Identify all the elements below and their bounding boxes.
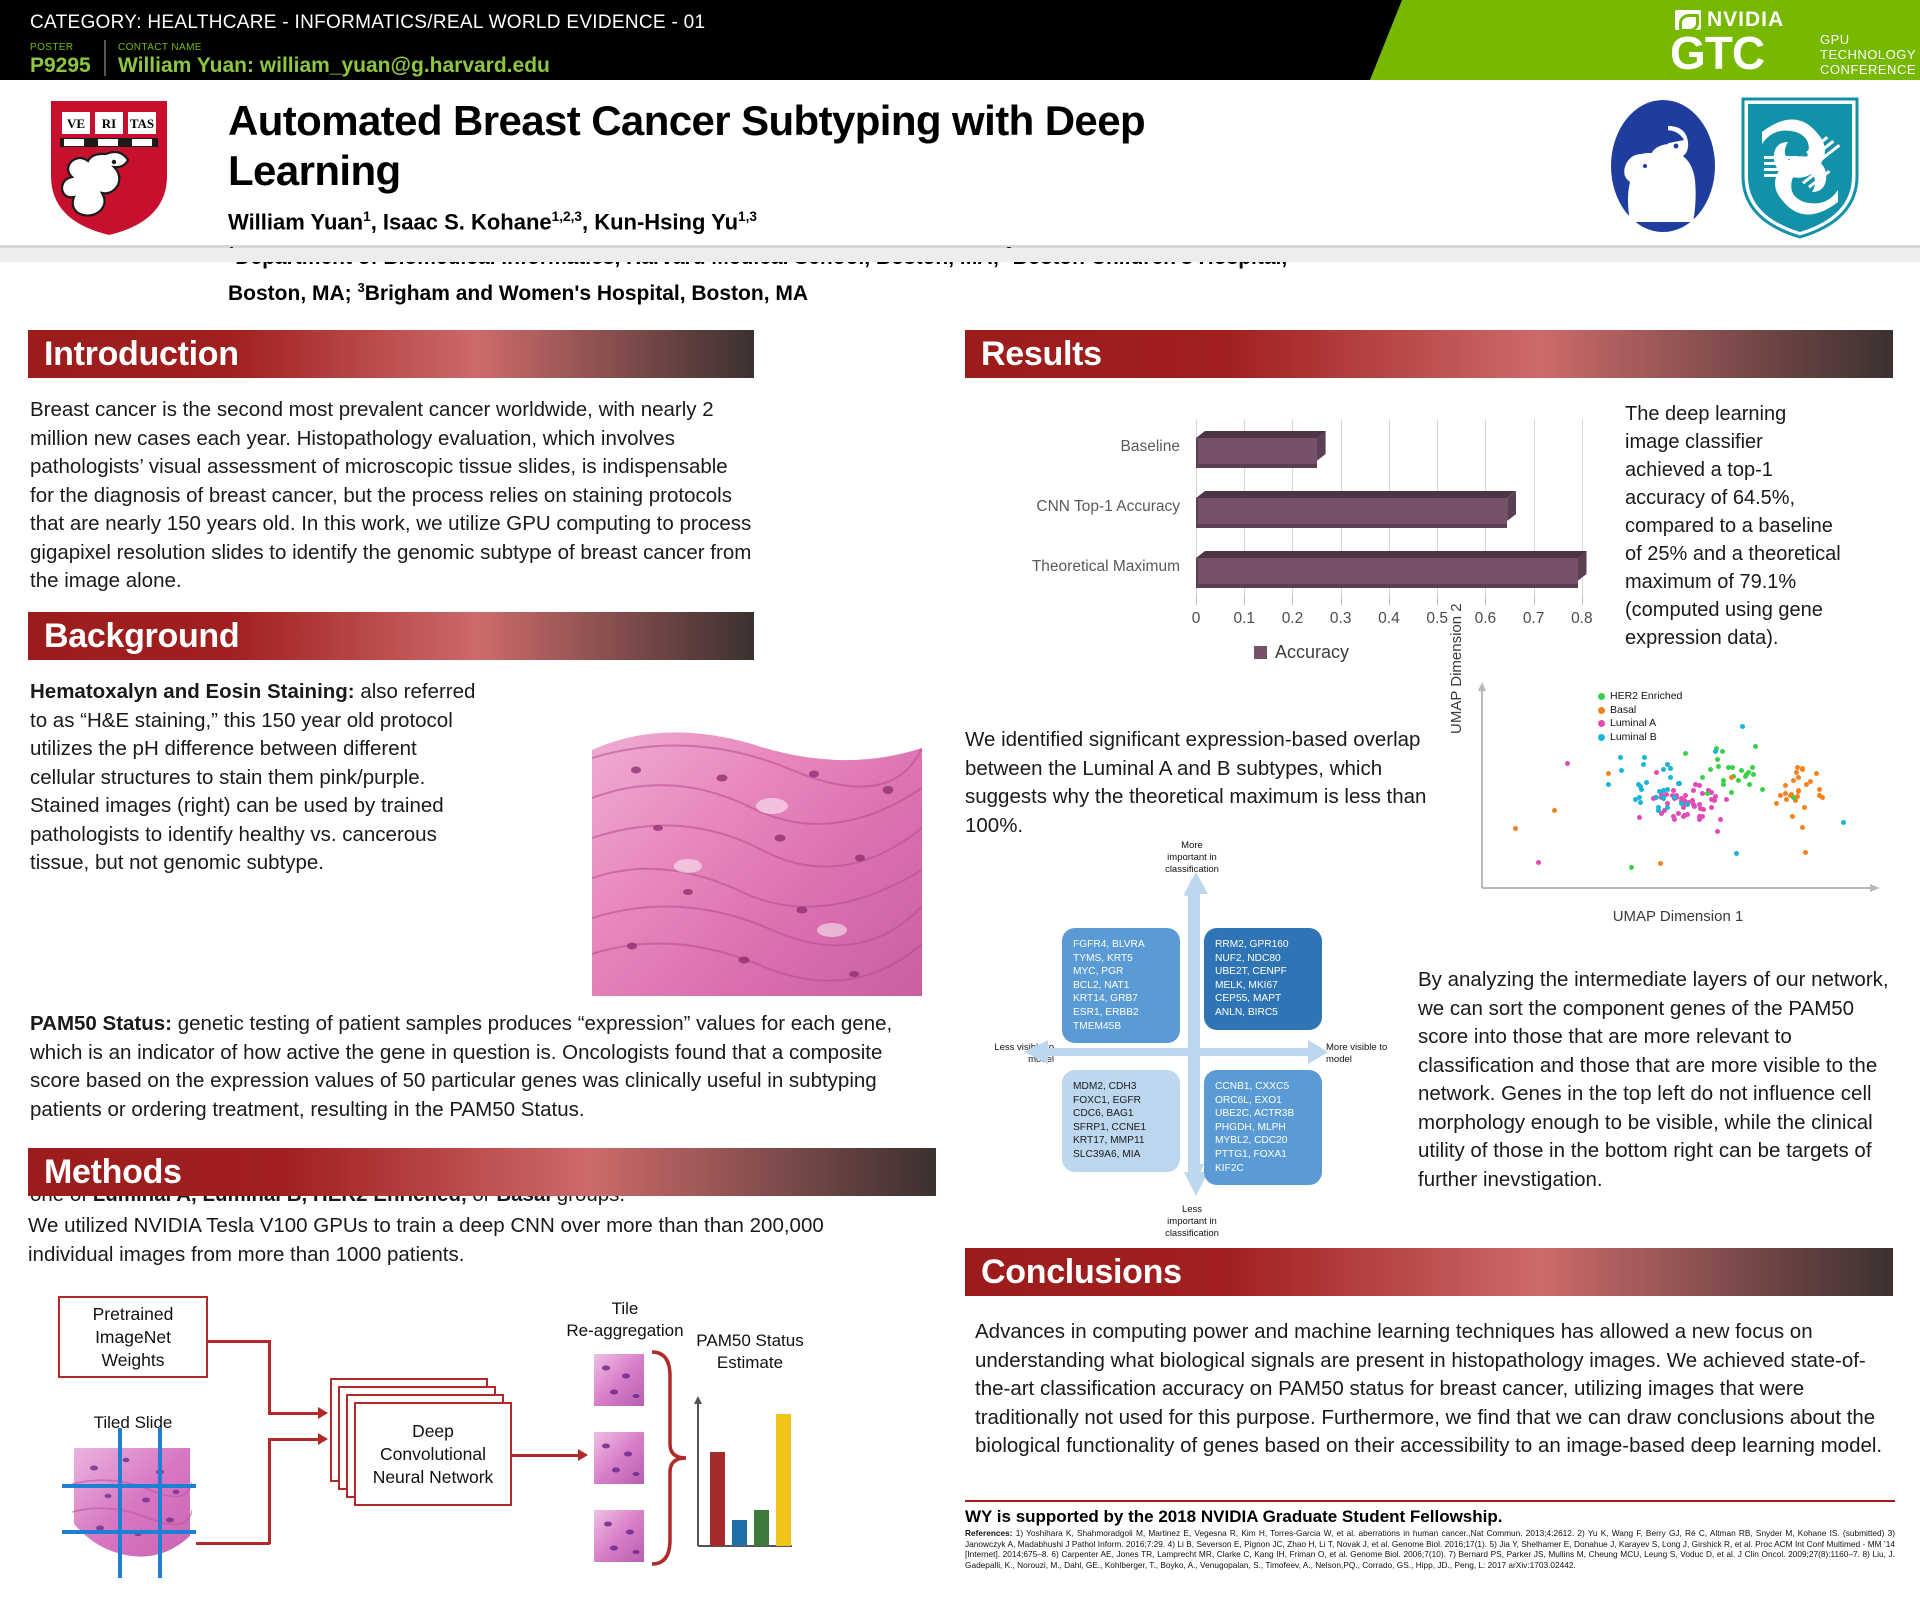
- bar-tick-mark: [1437, 596, 1438, 605]
- connector-cnn-to-tiles: [512, 1454, 580, 1457]
- bar-theoretical-maximum: [1196, 558, 1578, 588]
- section-header-results: Results: [965, 330, 1893, 378]
- umap-point: [1629, 865, 1634, 870]
- bar-category-label-baseline: Baseline: [1000, 438, 1180, 456]
- quad-top-line-1: More: [1132, 840, 1252, 852]
- header-separator: [0, 248, 1920, 262]
- umap-point: [1800, 825, 1805, 830]
- gtc-branding-panel: NVIDIA GTC GPU TECHNOLOGY CONFERENCE: [1330, 0, 1920, 80]
- he-stained-tissue-image: [592, 678, 922, 996]
- bar-tick-label: 0.8: [1560, 610, 1604, 628]
- umap-point: [1729, 775, 1734, 780]
- umap-point: [1790, 814, 1795, 819]
- arrow-slide-to-cnn: [318, 1433, 328, 1445]
- gtc-sub-technology: TECHNOLOGY: [1820, 47, 1916, 62]
- references-list: References: 1) Yoshihara K, Shahmoradgol…: [965, 1528, 1895, 1570]
- quadrant-box-bottom-right: CCNB1, CXXC5 ORC6L, EXO1 UBE2C, ACTR3B P…: [1204, 1070, 1322, 1185]
- gtc-sub-gpu: GPU: [1820, 32, 1916, 47]
- umap-point: [1701, 807, 1706, 812]
- bar-tick-label: 0: [1174, 610, 1218, 628]
- umap-point: [1750, 765, 1755, 770]
- umap-point: [1513, 826, 1518, 831]
- umap-point: [1713, 749, 1718, 754]
- umap-point: [1804, 782, 1809, 787]
- section-header-background: Background: [28, 612, 754, 660]
- umap-point: [1784, 797, 1789, 802]
- umap-point: [1665, 805, 1670, 810]
- umap-point: [1796, 775, 1801, 780]
- pretrained-line-1: Pretrained: [93, 1303, 174, 1326]
- bar-tick-label: 0.4: [1367, 610, 1411, 628]
- umap-point: [1814, 771, 1819, 776]
- umap-point: [1751, 772, 1756, 777]
- umap-point: [1692, 804, 1697, 809]
- pam50-estimate-mini-barchart: [688, 1396, 796, 1564]
- bar-tick-label: 0.7: [1512, 610, 1556, 628]
- introduction-body: Breast cancer is the second most prevale…: [30, 396, 756, 596]
- bar-chart-plot-area: [1196, 416, 1606, 596]
- umap-point: [1661, 796, 1666, 801]
- quadrant-box-top-left: FGFR4, BLVRA TYMS, KRT5 MYC, PGR BCL2, N…: [1062, 928, 1180, 1043]
- legend-swatch-accuracy: [1254, 646, 1267, 659]
- umap-point: [1774, 801, 1779, 806]
- umap-point: [1654, 770, 1659, 775]
- umap-point: [1565, 761, 1570, 766]
- umap-point: [1642, 755, 1647, 760]
- quadrant-right-label: More visible to model: [1326, 1042, 1404, 1066]
- umap-point: [1796, 789, 1801, 794]
- harvard-shield-logo: VERITAS: [48, 98, 170, 238]
- gtc-sub-conference: CONFERENCE: [1820, 62, 1916, 77]
- bar-tick-mark: [1389, 596, 1390, 605]
- umap-scatter-plot: UMAP Dimension 2 UMAP Dimension 1 HER2 E…: [1468, 682, 1888, 934]
- umap-point: [1697, 817, 1702, 822]
- connector-pretrained-vertical: [268, 1340, 271, 1414]
- accuracy-bar-chart: Baseline CNN Top-1 Accuracy Theoretical …: [1000, 416, 1620, 686]
- page-title: Automated Breast Cancer Subtyping with D…: [228, 96, 1288, 196]
- connector-pretrained-horizontal: [208, 1340, 270, 1343]
- connector-slide-horizontal: [196, 1542, 270, 1545]
- connector-slide-vertical: [268, 1438, 271, 1544]
- tile-grid-vertical-2: [158, 1428, 162, 1578]
- bar-tick-label: 0.6: [1463, 610, 1507, 628]
- umap-data-points: [1484, 686, 1872, 884]
- reaggregated-tiles-group: [592, 1352, 652, 1564]
- umap-point: [1724, 797, 1729, 802]
- umap-point: [1820, 795, 1825, 800]
- umap-point: [1552, 808, 1557, 813]
- section-header-introduction: Introduction: [28, 330, 754, 378]
- umap-point: [1685, 812, 1690, 817]
- umap-point: [1740, 724, 1745, 729]
- bar-tick-mark: [1534, 596, 1535, 605]
- cnn-line-2: Convolutional: [373, 1443, 494, 1466]
- umap-point: [1783, 783, 1788, 788]
- references-body: 1) Yoshihara K, Shahmoradgoli M, Martine…: [965, 1528, 1895, 1570]
- umap-point: [1668, 766, 1673, 771]
- arrow-pretrained-to-cnn: [318, 1407, 328, 1419]
- umap-point: [1715, 829, 1720, 834]
- umap-point: [1720, 749, 1725, 754]
- umap-point: [1638, 800, 1643, 805]
- umap-point: [1734, 851, 1739, 856]
- bar-chart-legend: Accuracy: [1254, 642, 1349, 663]
- methods-pipeline-diagram: Pretrained ImageNet Weights Tiled Slide: [40, 1290, 740, 1580]
- umap-point: [1606, 771, 1611, 776]
- pam50-est-line-1: PAM50 Status: [670, 1330, 830, 1352]
- section-header-conclusions: Conclusions: [965, 1248, 1893, 1296]
- svg-text:VE: VE: [67, 116, 85, 131]
- bar-tick-mark: [1341, 596, 1342, 605]
- aggregation-brace: [648, 1348, 688, 1568]
- category-label: CATEGORY: HEALTHCARE - INFORMATICS/REAL …: [30, 12, 705, 34]
- umap-point: [1718, 817, 1723, 822]
- gtc-subtitle: GPU TECHNOLOGY CONFERENCE: [1820, 32, 1916, 77]
- umap-point: [1619, 768, 1624, 773]
- umap-point: [1744, 772, 1749, 777]
- umap-point: [1841, 820, 1846, 825]
- umap-point: [1713, 794, 1718, 799]
- umap-point: [1654, 795, 1659, 800]
- conclusions-body: Advances in computing power and machine …: [975, 1318, 1893, 1461]
- bar-tick-label: 0.3: [1319, 610, 1363, 628]
- bar-cnn-top-1-accuracy: [1196, 498, 1507, 528]
- background-body-1: Hematoxalyn and Eosin Staining: also ref…: [30, 678, 478, 878]
- contact-block: CONTACT NAME William Yuan: william_yuan@…: [118, 42, 550, 78]
- umap-point: [1618, 755, 1623, 760]
- quad-bottom-line-2: important in: [1132, 1216, 1252, 1228]
- umap-point: [1656, 808, 1661, 813]
- analysis-text: By analyzing the intermediate layers of …: [1418, 966, 1896, 1194]
- poster-id: P9295: [30, 54, 91, 78]
- tile-grid-horizontal-2: [62, 1530, 196, 1534]
- results-side-text: The deep learning image classifier achie…: [1625, 400, 1845, 652]
- legend-label-accuracy: Accuracy: [1275, 642, 1349, 663]
- references-heading: References:: [965, 1528, 1013, 1538]
- umap-point: [1747, 782, 1752, 787]
- tiled-slide-image: [72, 1440, 192, 1562]
- umap-point: [1641, 762, 1646, 767]
- umap-point: [1637, 815, 1642, 820]
- umap-point: [1778, 793, 1783, 798]
- quad-right-line-1: More visible to: [1326, 1042, 1404, 1054]
- bar-tick-mark: [1485, 596, 1486, 605]
- pretrained-line-3: Weights: [93, 1349, 174, 1372]
- arrow-cnn-to-tiles: [578, 1449, 588, 1461]
- quad-bottom-line-1: Less: [1132, 1204, 1252, 1216]
- connector-pretrained-into-cnn: [268, 1412, 320, 1415]
- umap-point: [1638, 784, 1643, 789]
- cnn-line-1: Deep: [373, 1420, 494, 1443]
- umap-point: [1715, 757, 1720, 762]
- quad-right-line-2: model: [1326, 1054, 1404, 1066]
- contact-name-email: William Yuan: william_yuan@g.harvard.edu: [118, 54, 550, 78]
- umap-point: [1739, 768, 1744, 773]
- poster-label: POSTER: [30, 42, 91, 54]
- pam50-estimate-label: PAM50 Status Estimate: [670, 1330, 830, 1374]
- umap-point: [1795, 765, 1800, 770]
- umap-point: [1817, 787, 1822, 792]
- poster-id-block: POSTER P9295: [30, 42, 91, 78]
- connector-slide-into-cnn: [268, 1438, 320, 1441]
- bar-tick-mark: [1196, 596, 1197, 605]
- bar-baseline: [1196, 438, 1317, 468]
- boston-childrens-hospital-logo: [1608, 96, 1718, 236]
- umap-point: [1760, 787, 1765, 792]
- bar-tick-mark: [1244, 596, 1245, 605]
- overlap-explanation-text: We identified significant expression-bas…: [965, 726, 1435, 840]
- umap-point: [1753, 744, 1758, 749]
- gene-quadrant-diagram: More important in classification Less im…: [1020, 862, 1320, 1262]
- umap-point: [1803, 850, 1808, 855]
- gtc-wordmark: GTC: [1670, 30, 1764, 76]
- tile-reagg-line-1: Tile: [540, 1298, 710, 1320]
- umap-point: [1705, 791, 1710, 796]
- quadrant-box-top-right: RRM2, GPR160 NUF2, NDC80 UBE2T, CENPF ME…: [1204, 928, 1322, 1030]
- section-header-methods: Methods: [28, 1148, 936, 1196]
- bar-tick-label: 0.2: [1270, 610, 1314, 628]
- top-header-bar: CATEGORY: HEALTHCARE - INFORMATICS/REAL …: [0, 0, 1920, 80]
- quadrant-box-bottom-left: MDM2, CDH3 FOXC1, EGFR CDC6, BAG1 SFRP1,…: [1062, 1070, 1180, 1172]
- pam50-est-line-2: Estimate: [670, 1352, 830, 1374]
- tile-grid-vertical-1: [118, 1428, 122, 1578]
- title-text-block: Automated Breast Cancer Subtyping with D…: [228, 96, 1288, 309]
- brigham-womens-hospital-logo: [1740, 96, 1860, 240]
- bar-tick-label: 0.1: [1222, 610, 1266, 628]
- umap-point: [1691, 788, 1696, 793]
- umap-point: [1661, 767, 1666, 772]
- umap-point: [1683, 751, 1688, 756]
- cnn-line-3: Neural Network: [373, 1466, 494, 1489]
- umap-point: [1708, 767, 1713, 772]
- svg-text:RI: RI: [102, 116, 116, 131]
- umap-point: [1536, 860, 1541, 865]
- umap-point: [1685, 802, 1690, 807]
- umap-point: [1794, 770, 1799, 775]
- umap-point: [1672, 817, 1677, 822]
- tile-grid-horizontal-1: [62, 1484, 196, 1488]
- methods-body: We utilized NVIDIA Tesla V100 GPUs to tr…: [28, 1212, 908, 1269]
- umap-point: [1783, 791, 1788, 796]
- bar-category-label-cnn: CNN Top-1 Accuracy: [1000, 498, 1180, 516]
- deep-cnn-box: Deep Convolutional Neural Network: [354, 1402, 512, 1506]
- umap-point: [1658, 861, 1663, 866]
- umap-point: [1697, 783, 1702, 788]
- tiled-slide-label: Tiled Slide: [68, 1412, 198, 1434]
- umap-point: [1800, 767, 1805, 772]
- svg-text:TAS: TAS: [130, 116, 154, 131]
- umap-point: [1729, 790, 1734, 795]
- umap-point: [1791, 778, 1796, 783]
- pretrained-imagenet-weights-box: Pretrained ImageNet Weights: [58, 1296, 208, 1378]
- bar-chart-axis: 00.10.20.30.40.50.60.70.8: [1196, 596, 1606, 640]
- bar-category-label-theoretical: Theoretical Maximum: [1000, 558, 1180, 576]
- umap-point: [1802, 805, 1807, 810]
- umap-x-axis-label: UMAP Dimension 1: [1468, 908, 1888, 925]
- quad-bottom-line-3: classification: [1132, 1228, 1252, 1240]
- umap-point: [1661, 788, 1666, 793]
- umap-point: [1716, 764, 1721, 769]
- umap-point: [1679, 801, 1684, 806]
- umap-point: [1606, 782, 1611, 787]
- umap-point: [1736, 778, 1741, 783]
- funding-statement: WY is supported by the 2018 NVIDIA Gradu…: [965, 1500, 1895, 1527]
- bar-tick-mark: [1292, 596, 1293, 605]
- umap-point: [1668, 775, 1673, 780]
- umap-point: [1644, 780, 1649, 785]
- umap-point: [1700, 775, 1705, 780]
- bar-tick-mark: [1582, 596, 1583, 605]
- umap-point: [1677, 781, 1682, 786]
- contact-label: CONTACT NAME: [118, 42, 550, 54]
- umap-y-axis-label: UMAP Dimension 2: [1448, 603, 1465, 734]
- pretrained-line-2: ImageNet: [93, 1326, 174, 1349]
- authors-line: William Yuan1, Isaac S. Kohane1,2,3, Kun…: [228, 202, 1288, 237]
- umap-point: [1709, 805, 1714, 810]
- header-divider: [104, 40, 106, 76]
- quadrant-bottom-label: Less important in classification: [1132, 1204, 1252, 1240]
